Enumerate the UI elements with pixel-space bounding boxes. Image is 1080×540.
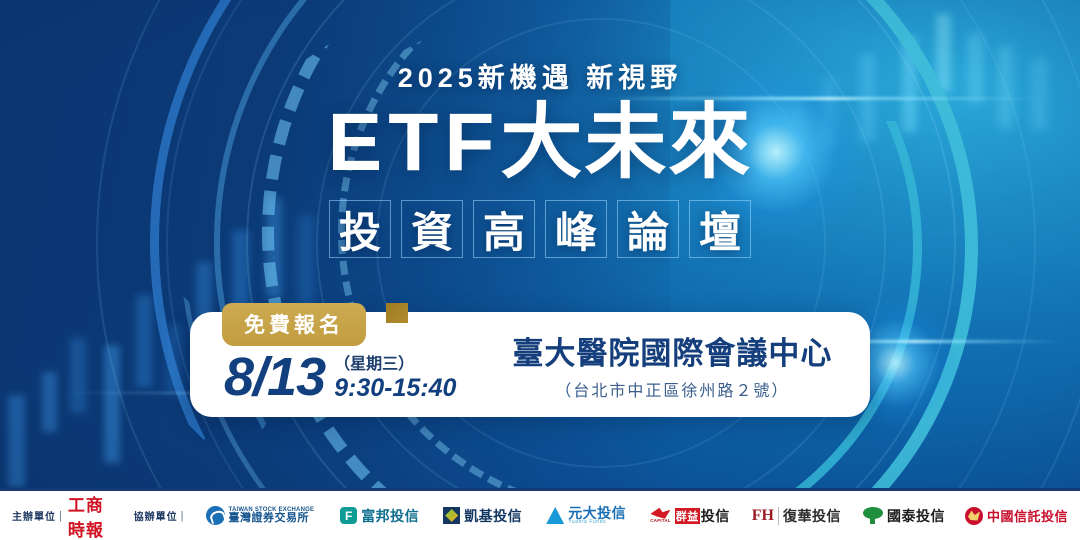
event-venue-address: （台北市中正區徐州路２號） [555, 377, 789, 401]
subtitle-char: 投 [329, 200, 391, 258]
free-badge-fold [386, 303, 408, 323]
subtitle-char: 資 [401, 200, 463, 258]
page-title: ETF大未來 [0, 100, 1080, 186]
fuhua-mark-icon: FH [752, 507, 779, 525]
logo-twse[interactable]: TAIWAN STOCK EXCHANGE 臺灣證券交易所 [206, 506, 315, 525]
free-registration-label: 免費報名 [244, 314, 344, 337]
sponsor-bar: 主辦單位 | 工商時報 協辦單位 | TAIWAN STOCK EXCHANGE… [0, 488, 1080, 540]
logo-qunyi-label: 投信 [701, 506, 730, 526]
logo-commercial-times[interactable]: 工商時報 [68, 491, 112, 540]
logo-yuanta[interactable]: 元大投信 Yuanta Funds [546, 506, 626, 525]
page-title-latin: ETF [328, 97, 501, 188]
logo-fuhua-label: 復華投信 [783, 506, 841, 526]
organizer-label: 主辦單位 [12, 508, 56, 523]
logo-capital-en: CAPITAL [650, 519, 671, 524]
logo-yuanta-en: Yuanta Funds [568, 520, 626, 525]
twse-mark-icon [206, 506, 225, 525]
subtitle-char: 壇 [689, 200, 751, 258]
organizer-separator: | [59, 510, 62, 522]
logo-twse-zh: 臺灣證券交易所 [229, 513, 315, 525]
logo-cathay-label: 國泰投信 [887, 506, 945, 526]
logo-capital-qunyi[interactable]: CAPITAL 群益投信 [650, 506, 730, 526]
ctbc-mark-icon [965, 507, 983, 525]
logo-cathay[interactable]: 國泰投信 [863, 506, 945, 526]
logo-kgi-label: 凱基投信 [464, 506, 522, 526]
event-weekday: （星期三） [334, 350, 456, 374]
logo-qunyi-mark: 群益 [675, 508, 700, 524]
logo-ctbc-label: 中國信託投信 [987, 506, 1068, 525]
kicker-text: 2025新機遇 新視野 [398, 63, 683, 93]
yuanta-mark-icon [546, 507, 564, 524]
coorganizer-label: 協辦單位 [134, 508, 178, 523]
event-banner: 2025新機遇 新視野 ETF大未來 投 資 高 峰 論 壇 免費報名 8/13… [0, 0, 1080, 540]
logo-kgi[interactable]: 凱基投信 [443, 506, 522, 526]
page-title-cjk: 大未來 [500, 97, 752, 188]
event-venue-name: 臺大醫院國際會議中心 [512, 328, 832, 373]
kgi-mark-icon [443, 507, 460, 524]
free-registration-badge[interactable]: 免費報名 [222, 303, 366, 346]
capital-bird-icon: CAPITAL [650, 508, 671, 524]
subtitle-char: 高 [473, 200, 535, 258]
fubon-mark-icon [340, 507, 357, 524]
event-date: 8/13 [224, 352, 325, 403]
logo-fubon[interactable]: 富邦投信 [340, 506, 419, 526]
event-subtitle: 投 資 高 峰 論 壇 [0, 200, 1080, 258]
cathay-tree-icon [863, 507, 883, 524]
subtitle-char: 峰 [545, 200, 607, 258]
event-date-block: 8/13 （星期三） 9:30-15:40 [224, 350, 456, 403]
logo-fuhua[interactable]: FH 復華投信 [752, 506, 841, 526]
subtitle-char: 論 [617, 200, 679, 258]
coorganizer-separator: | [181, 510, 184, 522]
event-venue-block: 臺大醫院國際會議中心 （台北市中正區徐州路２號） [512, 328, 832, 403]
event-time: 9:30-15:40 [334, 375, 456, 401]
logo-fubon-label: 富邦投信 [361, 506, 419, 526]
logo-yuanta-zh: 元大投信 [568, 506, 626, 520]
event-kicker: 2025新機遇 新視野 [0, 56, 1080, 95]
logo-ctbc[interactable]: 中國信託投信 [965, 506, 1068, 525]
